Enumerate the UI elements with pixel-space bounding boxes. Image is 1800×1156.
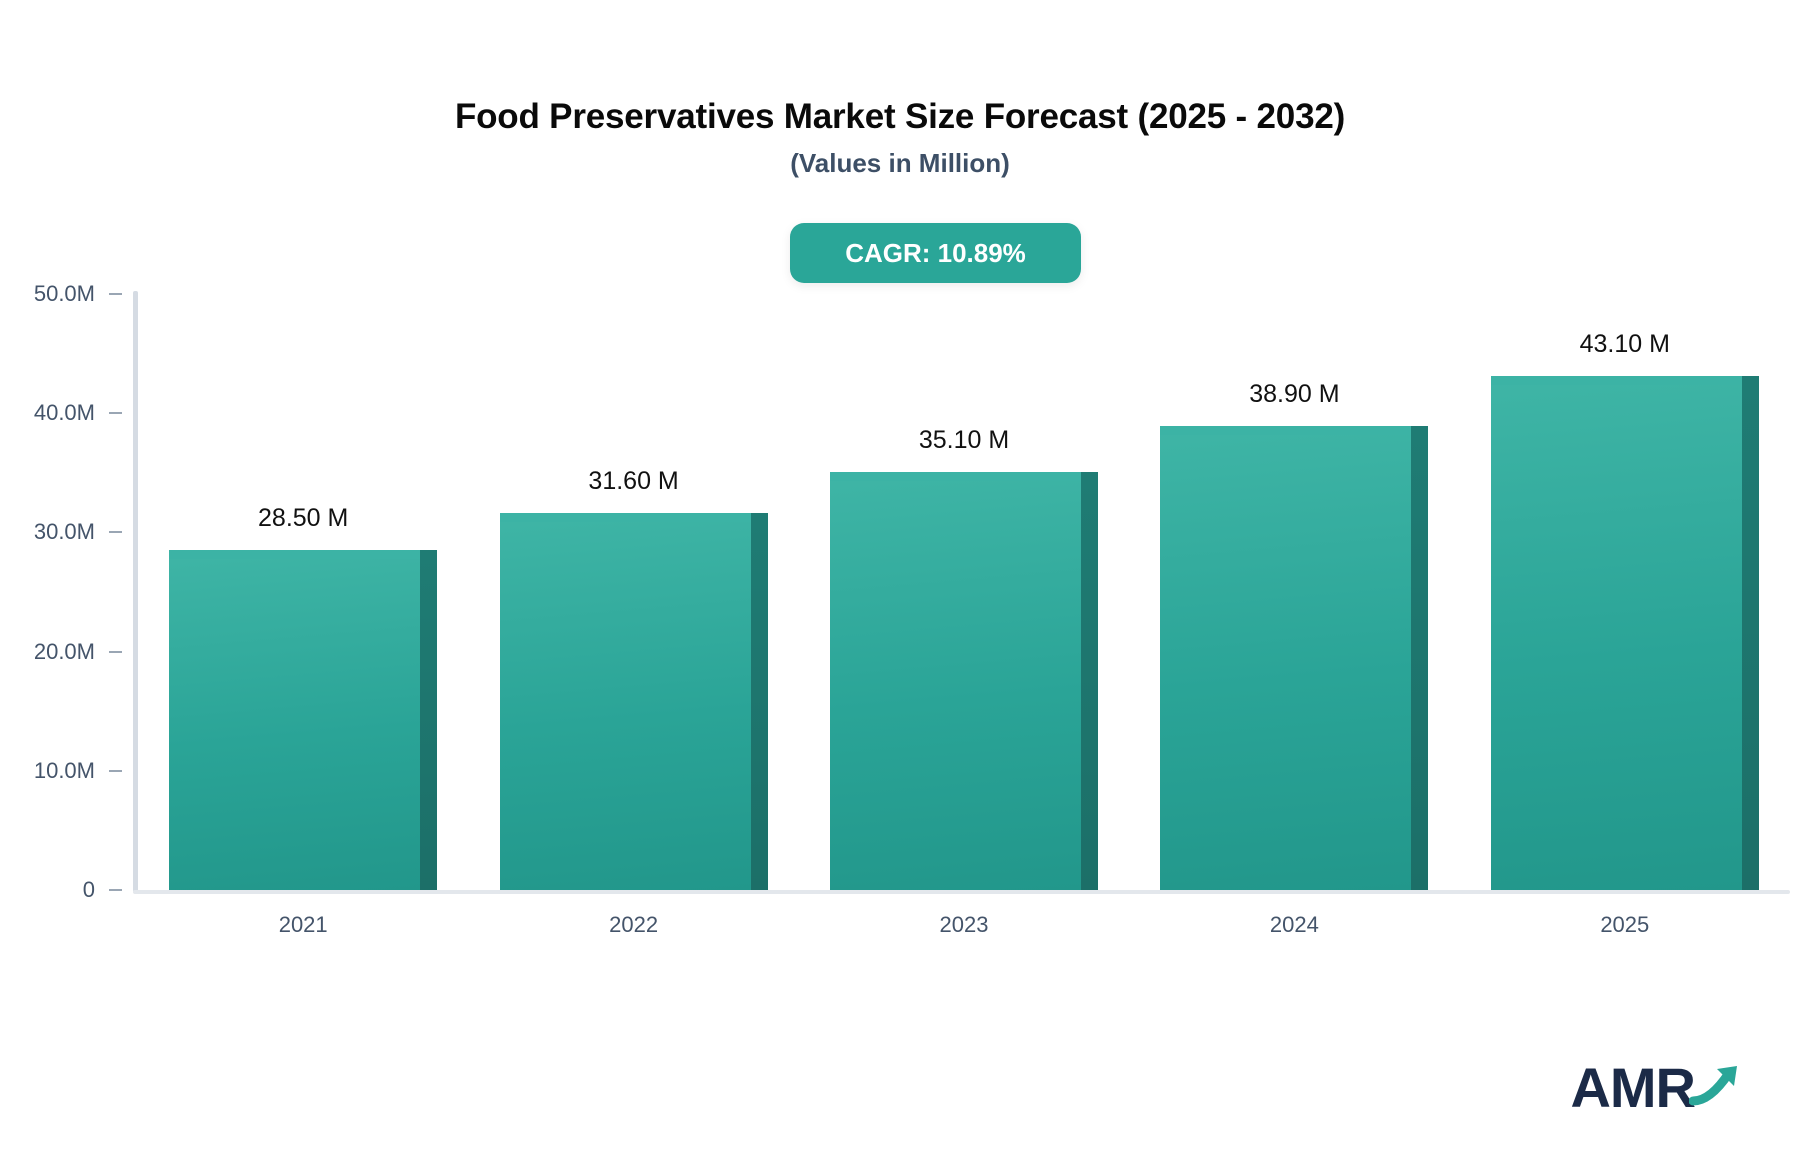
y-axis-tick-mark <box>109 293 122 295</box>
x-axis-tick-label: 2022 <box>554 912 714 938</box>
x-axis-tick-label: 2021 <box>223 912 383 938</box>
bar-front-face <box>500 513 751 890</box>
y-axis-tick-label: 30.0M <box>34 519 95 545</box>
bar-front-face <box>830 472 1081 890</box>
y-axis-tick-label: 40.0M <box>34 400 95 426</box>
amr-logo-text: AMR <box>1570 1060 1695 1116</box>
bar[interactable] <box>1491 376 1759 890</box>
y-axis-tick: 30.0M <box>0 520 130 544</box>
bar[interactable] <box>169 550 437 890</box>
bar[interactable] <box>500 513 768 890</box>
bar-side-face <box>751 513 768 890</box>
bar-front-face <box>1160 426 1411 890</box>
bar-front-face <box>1491 376 1742 890</box>
y-axis-tick: 0 <box>0 878 130 902</box>
bar[interactable] <box>1160 426 1428 890</box>
y-axis-tick: 40.0M <box>0 401 130 425</box>
trend-up-arrow-icon <box>1689 1061 1745 1112</box>
y-axis-tick: 20.0M <box>0 640 130 664</box>
bar-value-label: 38.90 M <box>1160 380 1428 409</box>
bar-front-face <box>169 550 420 890</box>
bar-value-label: 28.50 M <box>169 504 437 533</box>
y-axis-tick-mark <box>109 651 122 653</box>
bar-side-face <box>1742 376 1759 890</box>
plot-area: 010.0M20.0M30.0M40.0M50.0M 28.50 M31.60 … <box>0 0 1800 1156</box>
bar-top-face <box>500 513 751 522</box>
amr-logo: AMR <box>1570 1060 1745 1116</box>
y-axis-tick: 50.0M <box>0 282 130 306</box>
y-axis-tick: 10.0M <box>0 759 130 783</box>
bar-side-face <box>1411 426 1428 890</box>
y-axis-tick-label: 0 <box>83 877 95 903</box>
bar-value-label: 43.10 M <box>1491 330 1759 359</box>
x-axis-line <box>133 890 1790 894</box>
bar-top-face <box>830 472 1081 481</box>
y-axis-tick-mark <box>109 770 122 772</box>
y-axis-line <box>133 291 138 892</box>
bar-side-face <box>1081 472 1098 890</box>
bar-top-face <box>169 550 420 559</box>
y-axis-tick-mark <box>109 531 122 533</box>
y-axis-tick-label: 50.0M <box>34 281 95 307</box>
bar-top-face <box>1491 376 1742 385</box>
bar[interactable] <box>830 472 1098 890</box>
bar-value-label: 35.10 M <box>830 426 1098 455</box>
x-axis-tick-label: 2023 <box>884 912 1044 938</box>
bar-top-face <box>1160 426 1411 435</box>
bar-value-label: 31.60 M <box>500 467 768 496</box>
chart-canvas: Food Preservatives Market Size Forecast … <box>0 0 1800 1156</box>
bar-side-face <box>420 550 437 890</box>
x-axis-tick-label: 2025 <box>1545 912 1705 938</box>
y-axis-tick-label: 20.0M <box>34 639 95 665</box>
y-axis-tick-mark <box>109 889 122 891</box>
y-axis-tick-label: 10.0M <box>34 758 95 784</box>
y-axis-tick-mark <box>109 412 122 414</box>
x-axis-tick-label: 2024 <box>1214 912 1374 938</box>
